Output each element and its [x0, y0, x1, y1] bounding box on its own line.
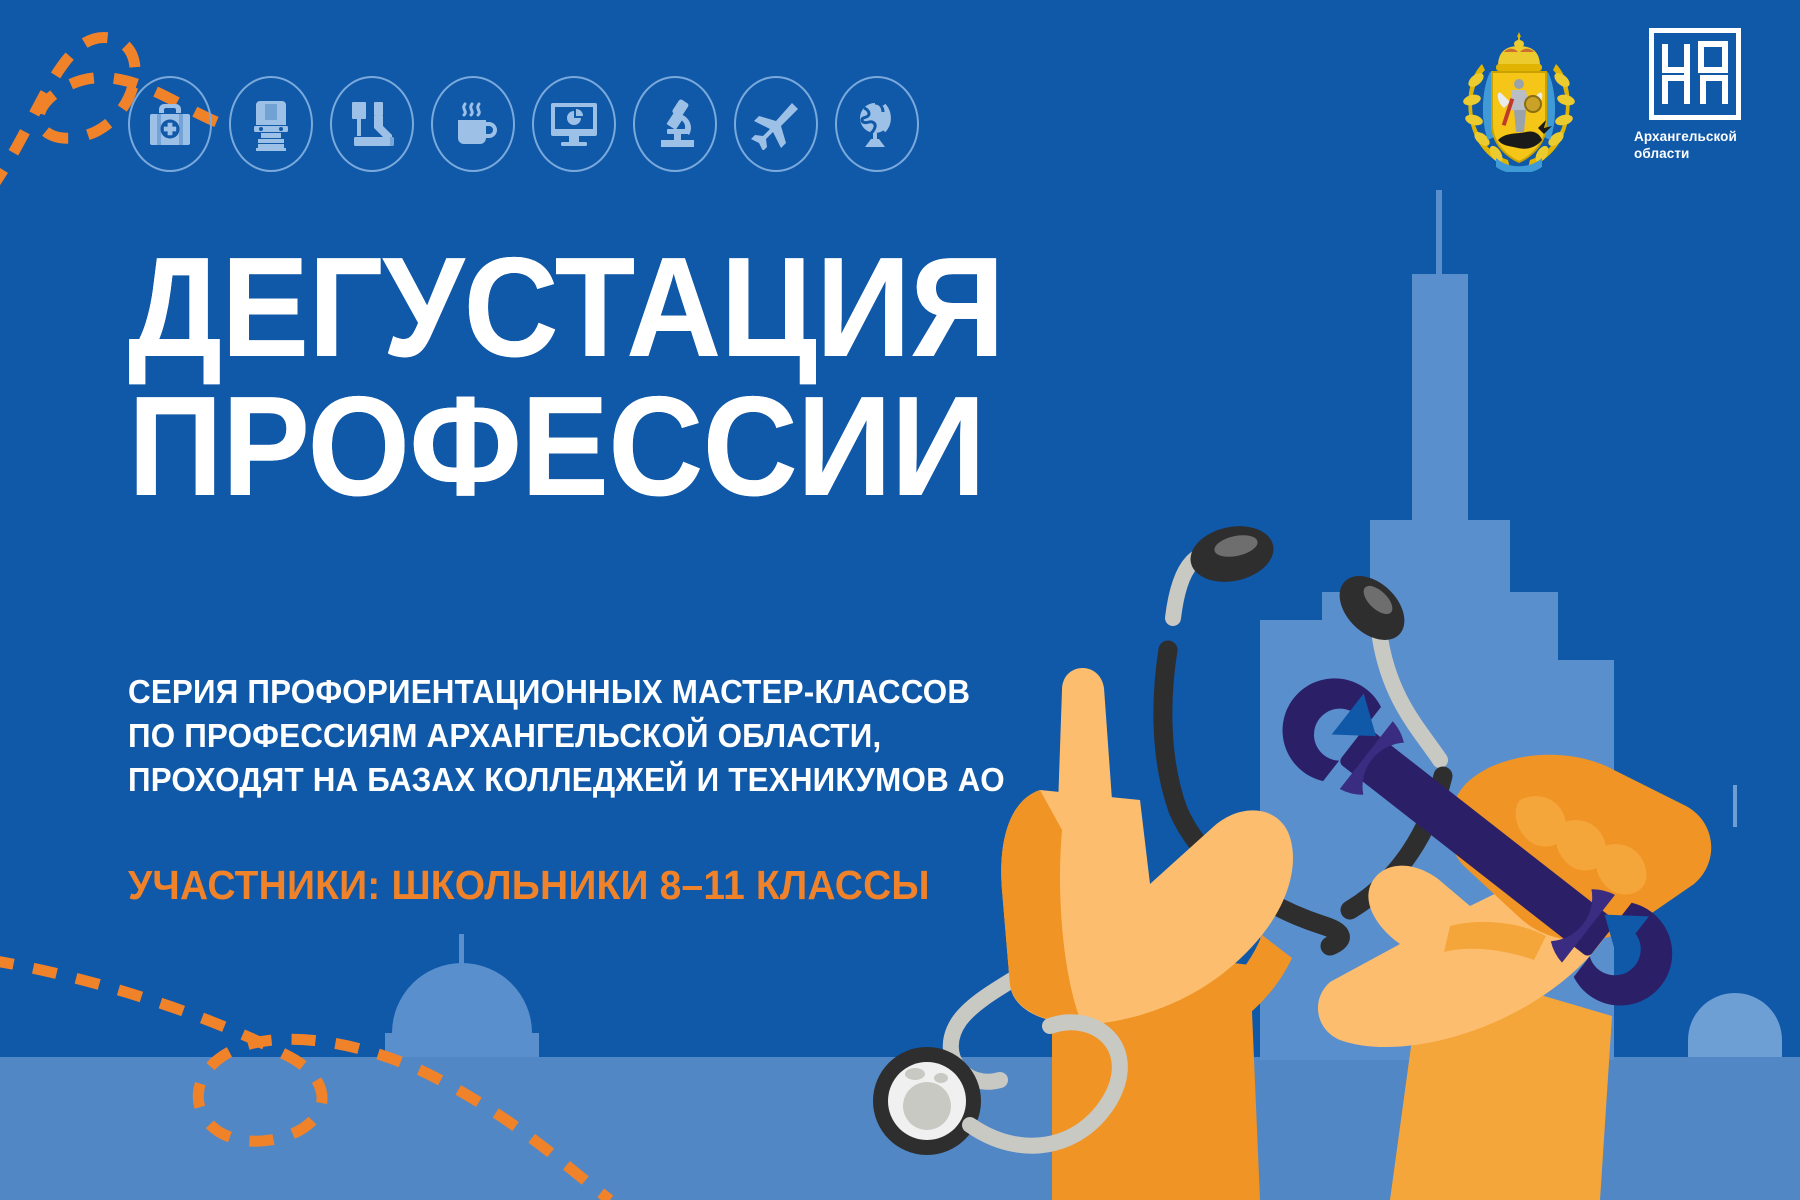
subtitle-text: СЕРИЯ ПРОФОРИЕНТАЦИОННЫХ МАСТЕР-КЛАССОВ …	[128, 670, 1005, 802]
stethoscope-earpieces	[1185, 519, 1416, 653]
page-title: ДЕГУСТАЦИЯ ПРОФЕССИИ	[128, 238, 1004, 516]
participants-text: УЧАСТНИКИ: ШКОЛЬНИКИ 8–11 КЛАССЫ	[128, 862, 930, 909]
poster-canvas: Архангельской области	[0, 0, 1800, 1200]
stethoscope-chest-piece	[873, 1047, 981, 1155]
illustration-layer	[0, 0, 1800, 1200]
hand-holding-stethoscope	[1001, 668, 1293, 1200]
